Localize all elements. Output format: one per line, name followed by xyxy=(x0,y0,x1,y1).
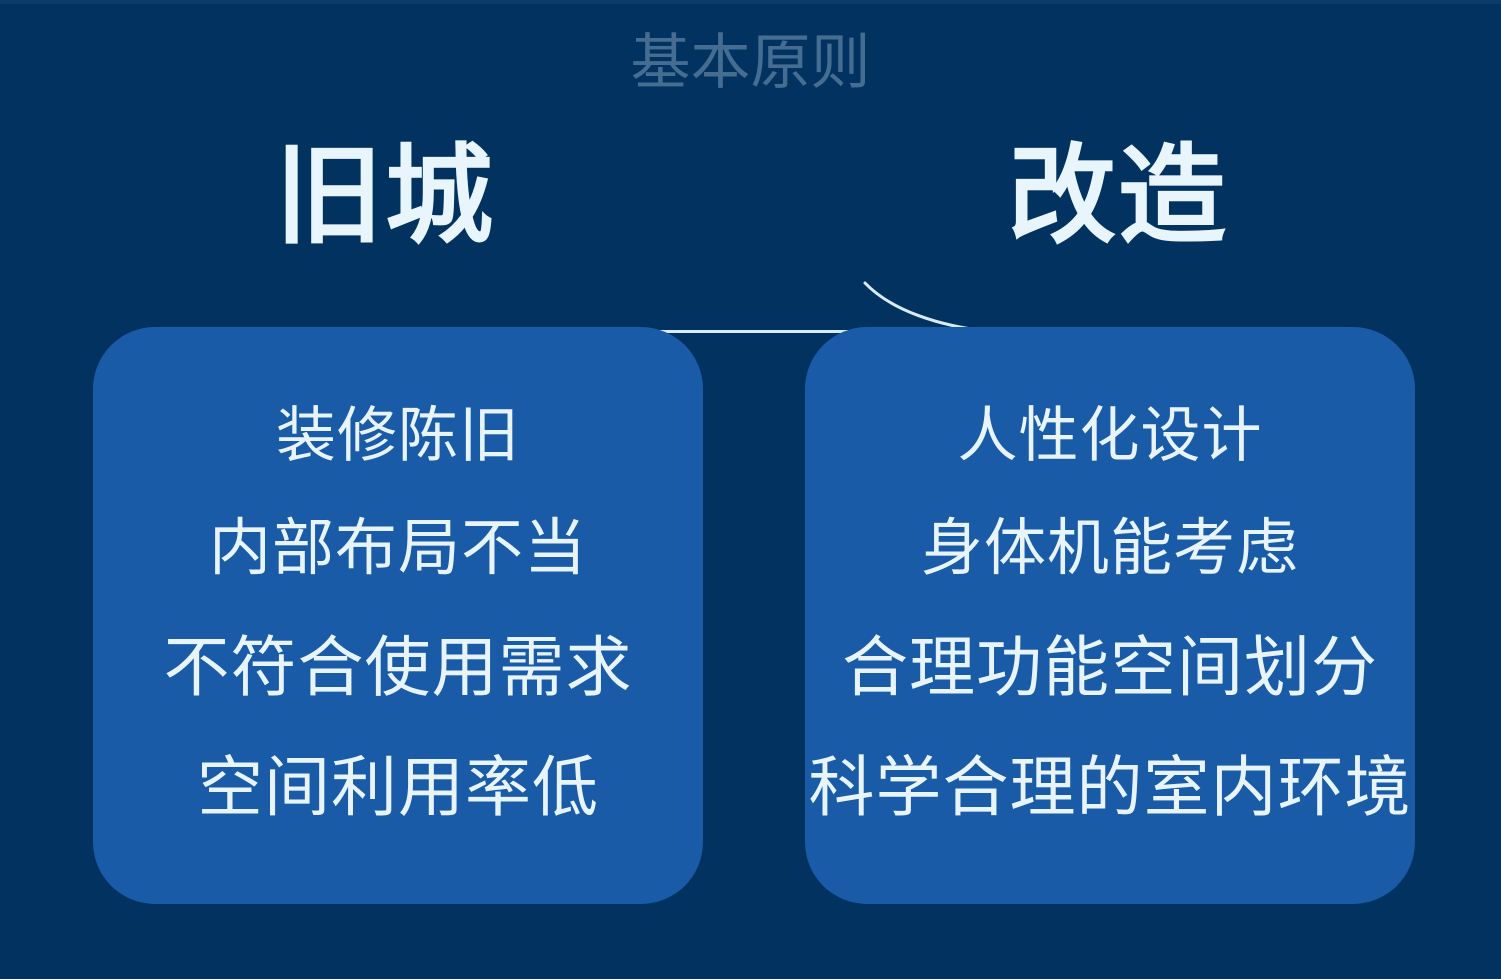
after-card-line-3: 合理功能空间划分 xyxy=(842,627,1378,707)
before-card-line-2: 内部布局不当 xyxy=(209,511,587,587)
title-left-term: 旧城 xyxy=(275,128,495,263)
main-title-row: 旧城 改造 xyxy=(0,128,1501,263)
before-card-line-1: 装修陈旧 xyxy=(276,399,520,473)
top-edge-band xyxy=(0,0,1501,4)
after-card: 人性化设计 身体机能考虑 合理功能空间划分 科学合理的室内环境 xyxy=(805,327,1415,904)
title-right-term: 改造 xyxy=(1008,128,1228,263)
before-card: 装修陈旧 内部布局不当 不符合使用需求 空间利用率低 xyxy=(93,327,703,904)
after-card-line-2: 身体机能考虑 xyxy=(921,511,1299,587)
before-card-line-4: 空间利用率低 xyxy=(197,747,599,827)
page-eyebrow-title: 基本原则 xyxy=(0,33,1501,93)
slide-canvas: 基本原则 旧城 改造 装修陈旧 内部布局不当 不符合使用需求 空间利用率低 人性… xyxy=(0,0,1501,979)
after-card-line-1: 人性化设计 xyxy=(958,399,1263,473)
before-card-line-3: 不符合使用需求 xyxy=(164,627,633,707)
after-card-line-4: 科学合理的室内环境 xyxy=(809,747,1412,827)
